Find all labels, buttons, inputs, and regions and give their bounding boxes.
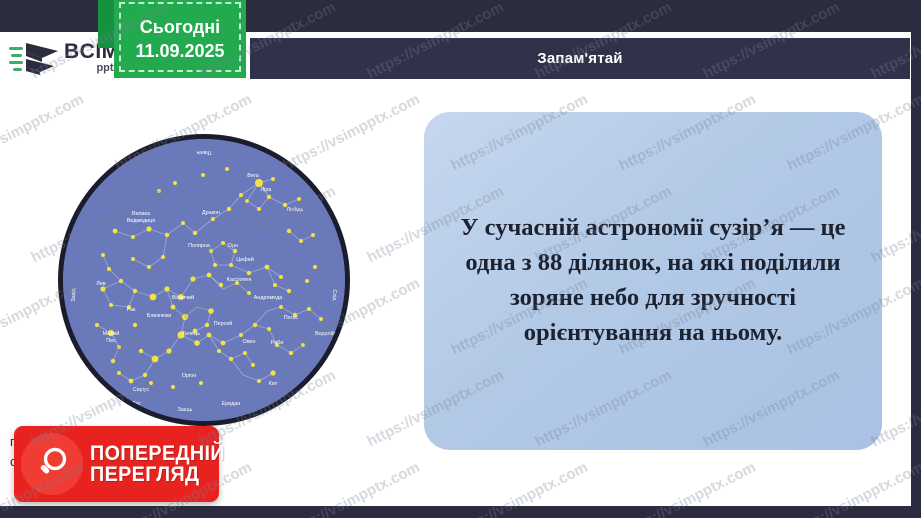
svg-text:Персей: Персей (214, 320, 233, 327)
svg-text:Кассіопея: Кассіопея (227, 277, 252, 283)
preview-badge[interactable]: ПОПЕРЕДНІЙ ПЕРЕГЛЯД (14, 426, 219, 502)
svg-text:Вега: Вега (247, 173, 258, 179)
svg-text:Дракон: Дракон (202, 210, 220, 216)
svg-text:Візничий: Візничий (172, 294, 194, 301)
star-chart-image: Велика Ведмедиця Дракон Вега Ліра Лебідь… (58, 134, 350, 426)
svg-text:Лев: Лев (96, 281, 106, 287)
magnifier-icon (21, 433, 83, 495)
svg-text:Кит: Кит (269, 381, 278, 387)
info-panel-text: У сучасній астрономії сузір’я — це одна … (450, 211, 856, 350)
date-badge-label: Сьогодні (140, 15, 220, 39)
svg-text:Ліра: Ліра (261, 187, 272, 193)
date-badge-value: 11.09.2025 (135, 39, 224, 63)
svg-text:Близнюки: Близнюки (147, 313, 172, 319)
svg-text:Риби: Риби (271, 340, 284, 346)
slide-canvas: BCIM pptx Сьогодні 11.09.2025 Запам'ятай (0, 0, 921, 518)
svg-text:Пес: Пес (106, 338, 116, 344)
svg-text:Лебідь: Лебідь (287, 207, 304, 213)
svg-text:Водолій: Водолій (315, 330, 335, 337)
svg-text:Захід: Захід (71, 288, 77, 302)
svg-text:Малий: Малий (103, 330, 120, 337)
svg-text:Оріон: Оріон (182, 373, 196, 379)
svg-text:Андромеда: Андромеда (254, 295, 282, 301)
page-title: Запам'ятай (537, 50, 622, 67)
svg-text:Сиріус: Сиріус (133, 387, 150, 393)
svg-text:Рак: Рак (127, 307, 136, 313)
svg-text:Ведмедиця: Ведмедиця (127, 218, 155, 224)
date-badge: Сьогодні 11.09.2025 (98, 0, 256, 80)
svg-text:Заєць: Заєць (178, 407, 193, 413)
preview-badge-line-1: ПОПЕРЕДНІЙ (90, 443, 225, 464)
svg-text:Полярна: Полярна (188, 243, 210, 249)
graduation-cap-icon (8, 35, 64, 79)
svg-text:Овен: Овен (243, 339, 256, 345)
info-panel: У сучасній астрономії сузір’я — це одна … (424, 112, 882, 450)
svg-text:Телець: Телець (182, 331, 200, 337)
header-bar: Запам'ятай (250, 38, 910, 79)
svg-text:Орн: Орн (228, 243, 238, 249)
svg-text:Еридан: Еридан (222, 401, 241, 407)
svg-text:Велика: Велика (132, 211, 150, 217)
star-chart-svg: Велика Ведмедиця Дракон Вега Ліра Лебідь… (63, 139, 345, 421)
svg-text:Пегас: Пегас (284, 315, 299, 321)
svg-text:Схід: Схід (331, 290, 337, 302)
svg-text:Цефей: Цефей (236, 256, 253, 263)
preview-badge-line-2: ПЕРЕГЛЯД (90, 464, 225, 485)
svg-text:Північ: Північ (196, 149, 211, 155)
